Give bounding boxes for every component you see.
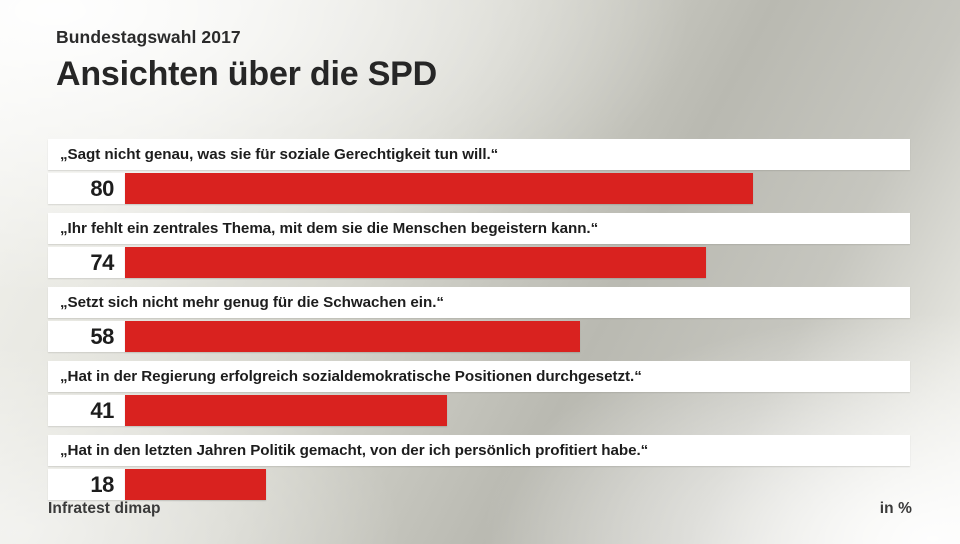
bar-fill <box>125 247 706 278</box>
chart-row: „Hat in der Regierung erfolgreich sozial… <box>48 361 910 426</box>
bar-track <box>125 469 910 500</box>
bar-row: 41 <box>48 395 910 426</box>
page-title: Ansichten über die SPD <box>56 55 916 93</box>
bar-category-label: „Sagt nicht genau, was sie für soziale G… <box>48 139 910 170</box>
bar-chart: „Sagt nicht genau, was sie für soziale G… <box>48 139 910 509</box>
bar-row: 80 <box>48 173 910 204</box>
bar-value-label: 18 <box>48 469 125 500</box>
bar-value-label: 58 <box>48 321 125 352</box>
bar-track <box>125 321 910 352</box>
bar-row: 74 <box>48 247 910 278</box>
unit-label: in % <box>880 500 912 518</box>
bar-track <box>125 247 910 278</box>
infographic-canvas: Bundestagswahl 2017 Ansichten über die S… <box>0 0 960 544</box>
bar-category-label: „Ihr fehlt ein zentrales Thema, mit dem … <box>48 213 910 244</box>
source-label: Infratest dimap <box>48 500 161 518</box>
bar-row: 18 <box>48 469 910 500</box>
bar-fill <box>125 173 753 204</box>
bar-category-label: „Hat in den letzten Jahren Politik gemac… <box>48 435 910 466</box>
chart-row: „Setzt sich nicht mehr genug für die Sch… <box>48 287 910 352</box>
bar-track <box>125 173 910 204</box>
chart-row: „Ihr fehlt ein zentrales Thema, mit dem … <box>48 213 910 278</box>
bar-value-label: 74 <box>48 247 125 278</box>
bar-fill <box>125 469 266 500</box>
bar-category-label: „Hat in der Regierung erfolgreich sozial… <box>48 361 910 392</box>
bar-fill <box>125 395 447 426</box>
chart-kicker: Bundestagswahl 2017 <box>56 28 916 47</box>
bar-row: 58 <box>48 321 910 352</box>
chart-row: „Sagt nicht genau, was sie für soziale G… <box>48 139 910 204</box>
bar-value-label: 41 <box>48 395 125 426</box>
bar-track <box>125 395 910 426</box>
bar-value-label: 80 <box>48 173 125 204</box>
chart-header: Bundestagswahl 2017 Ansichten über die S… <box>56 28 916 93</box>
bar-category-label: „Setzt sich nicht mehr genug für die Sch… <box>48 287 910 318</box>
bar-fill <box>125 321 580 352</box>
chart-footer: Infratest dimap in % <box>48 500 912 518</box>
chart-row: „Hat in den letzten Jahren Politik gemac… <box>48 435 910 500</box>
